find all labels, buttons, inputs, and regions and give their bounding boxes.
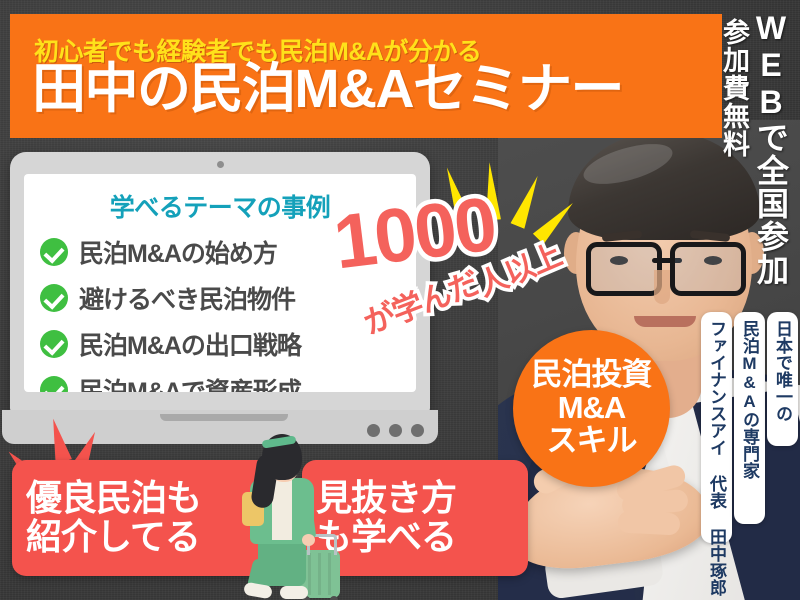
list-item: 民泊M&Aの出口戦略 bbox=[40, 326, 416, 362]
shoe bbox=[280, 586, 308, 599]
credential-company-and-name: ファイナンスアイ 代表 田中琢郎 bbox=[701, 312, 732, 543]
nose bbox=[654, 270, 670, 304]
topic-label: 避けるべき民泊物件 bbox=[79, 280, 295, 316]
traveler-illustration bbox=[236, 434, 342, 600]
banner-right-line-1: 見抜き方 bbox=[316, 479, 528, 518]
presenter-credentials: ファイナンスアイ 代表 田中琢郎 民泊M&Aの専門家 日本で唯一の bbox=[699, 312, 798, 543]
check-circle-icon bbox=[40, 330, 68, 358]
badge-line-2: M&A bbox=[558, 392, 626, 425]
skill-circle-badge: 民泊投資 M&A スキル bbox=[513, 330, 670, 487]
ray bbox=[510, 173, 544, 229]
check-circle-icon bbox=[40, 284, 68, 312]
suitcase-wheel bbox=[330, 596, 338, 600]
seminar-poster: 初心者でも経験者でも民泊M&Aが分かる 田中の民泊M&Aセミナー WEBで全国参… bbox=[0, 0, 800, 600]
hand bbox=[302, 534, 315, 546]
credential-specialty: 民泊M&Aの専門家 bbox=[734, 312, 765, 524]
laptop-lid: 学べるテーマの事例 民泊M&Aの始め方 避けるべき民泊物件 民泊M&Aの出口戦略 bbox=[10, 152, 430, 414]
check-circle-icon bbox=[40, 238, 68, 266]
mouth bbox=[634, 316, 696, 327]
lens-right bbox=[670, 242, 746, 296]
finger bbox=[617, 510, 680, 535]
bottom-banner-left: 優良民泊も 紹介してる bbox=[12, 460, 274, 576]
lens-left bbox=[586, 242, 662, 296]
header-banner: 初心者でも経験者でも民泊M&Aが分かる 田中の民泊M&Aセミナー bbox=[10, 14, 722, 138]
learner-count-badge: 1000 人以上 が学んだ bbox=[330, 186, 499, 281]
credential-unique: 日本で唯一の bbox=[767, 312, 798, 446]
badge-line-1: 民泊投資 bbox=[532, 359, 652, 392]
topic-label: 民泊M&Aで資産形成 bbox=[79, 372, 301, 392]
banner-right-line-2: も学べる bbox=[316, 518, 528, 557]
topic-label: 民泊M&Aの出口戦略 bbox=[79, 326, 301, 362]
laptop-base-dots bbox=[367, 424, 424, 437]
vertical-text-web-nationwide: WEBで全国参加 bbox=[748, 10, 794, 286]
topic-label: 民泊M&Aの始め方 bbox=[79, 234, 277, 270]
ray bbox=[45, 417, 72, 464]
check-circle-icon bbox=[40, 376, 68, 392]
page-title: 田中の民泊M&Aセミナー bbox=[32, 62, 623, 116]
vertical-text-free-entry: 参加費無料 bbox=[715, 18, 754, 158]
badge-line-3: スキル bbox=[547, 425, 637, 458]
laptop-trackpad bbox=[160, 414, 288, 421]
list-item: 民泊M&Aで資産形成 bbox=[40, 372, 416, 392]
webcam-icon bbox=[217, 161, 224, 168]
